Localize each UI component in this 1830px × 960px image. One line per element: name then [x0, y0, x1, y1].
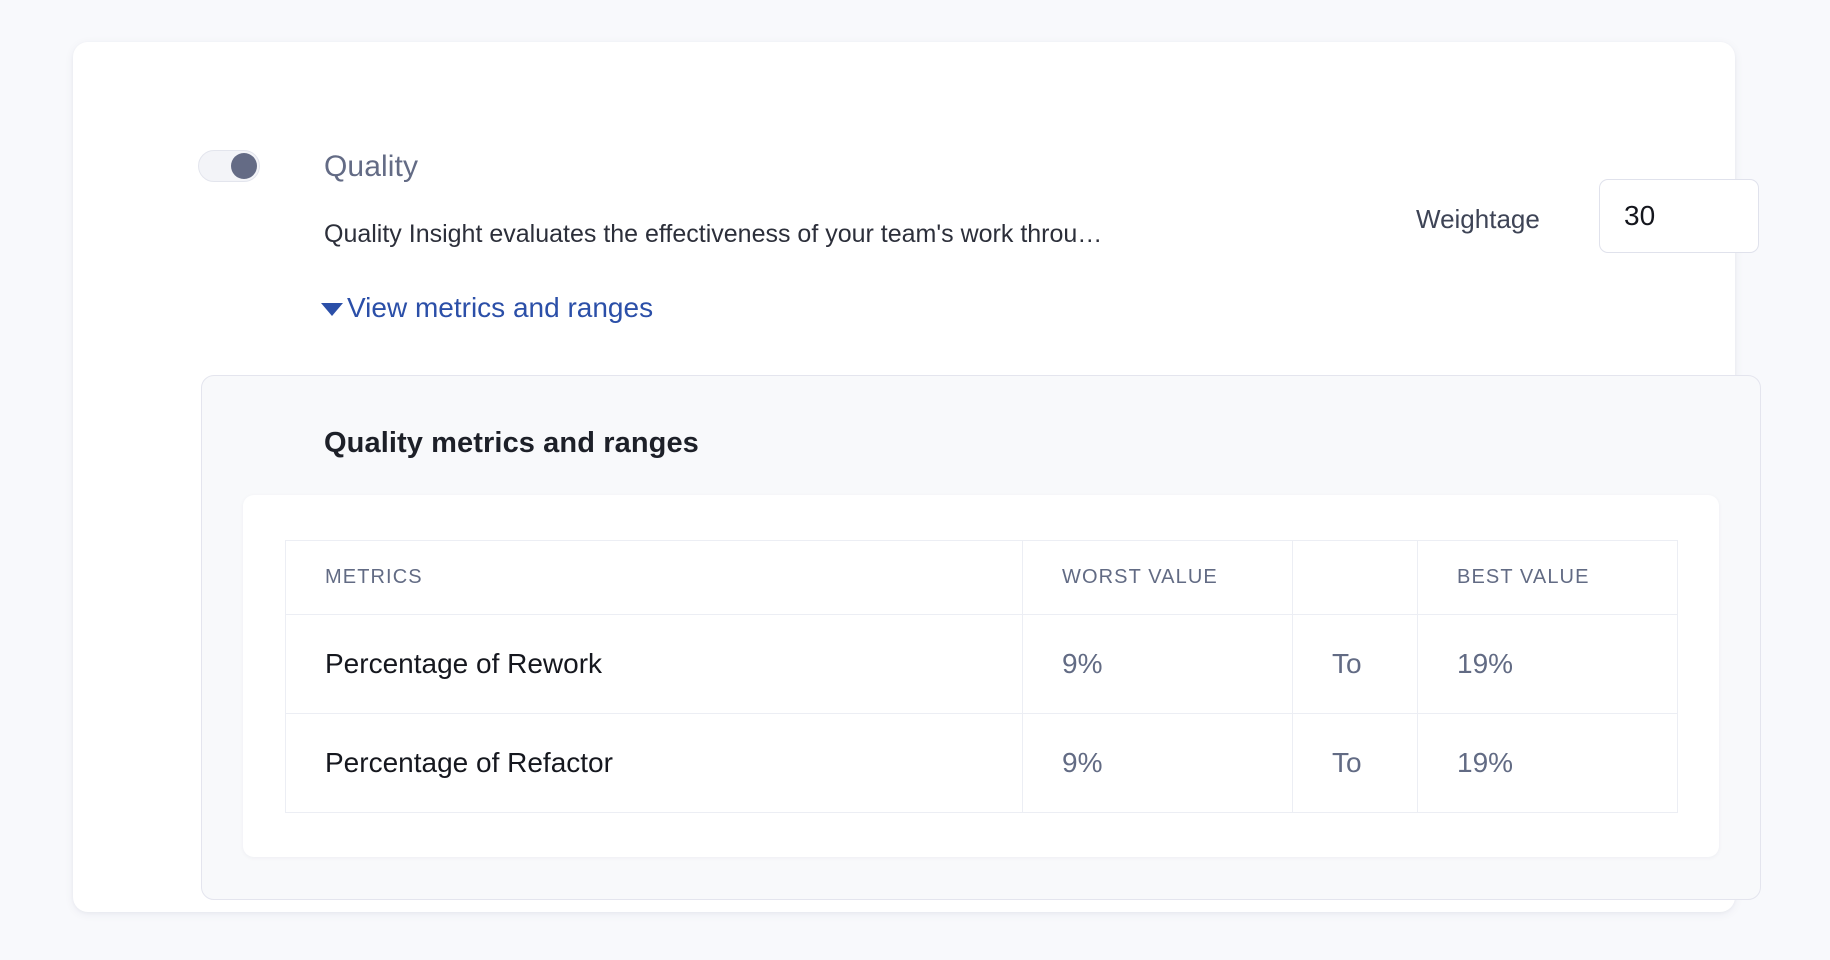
column-header-worst-value: WORST VALUE [1023, 541, 1293, 615]
column-header-best-value: BEST VALUE [1418, 541, 1678, 615]
insight-title: Quality [324, 148, 418, 186]
cell-to-label: To [1293, 615, 1418, 714]
cell-best-value: 19% [1418, 714, 1678, 813]
insight-description: Quality Insight evaluates the effectiven… [324, 217, 1384, 251]
weightage-label: Weightage [1416, 202, 1540, 236]
chevron-down-icon [321, 303, 343, 316]
column-header-metrics: METRICS [286, 541, 1023, 615]
cell-to-label: To [1293, 714, 1418, 813]
metrics-table: METRICS WORST VALUE BEST VALUE Percentag… [285, 540, 1678, 813]
quality-insight-card: Quality Quality Insight evaluates the ef… [73, 42, 1735, 912]
weightage-input[interactable] [1599, 179, 1759, 253]
view-metrics-label: View metrics and ranges [347, 290, 653, 326]
table-header-row: METRICS WORST VALUE BEST VALUE [286, 541, 1678, 615]
quality-enable-toggle[interactable] [198, 150, 260, 182]
column-header-spacer [1293, 541, 1418, 615]
cell-metric-name: Percentage of Refactor [286, 714, 1023, 813]
cell-best-value: 19% [1418, 615, 1678, 714]
cell-worst-value: 9% [1023, 714, 1293, 813]
table-row: Percentage of Rework 9% To 19% [286, 615, 1678, 714]
panel-heading: Quality metrics and ranges [324, 424, 699, 462]
table-row: Percentage of Refactor 9% To 19% [286, 714, 1678, 813]
cell-worst-value: 9% [1023, 615, 1293, 714]
view-metrics-and-ranges-link[interactable]: View metrics and ranges [321, 290, 653, 326]
cell-metric-name: Percentage of Rework [286, 615, 1023, 714]
toggle-knob-icon [231, 153, 257, 179]
